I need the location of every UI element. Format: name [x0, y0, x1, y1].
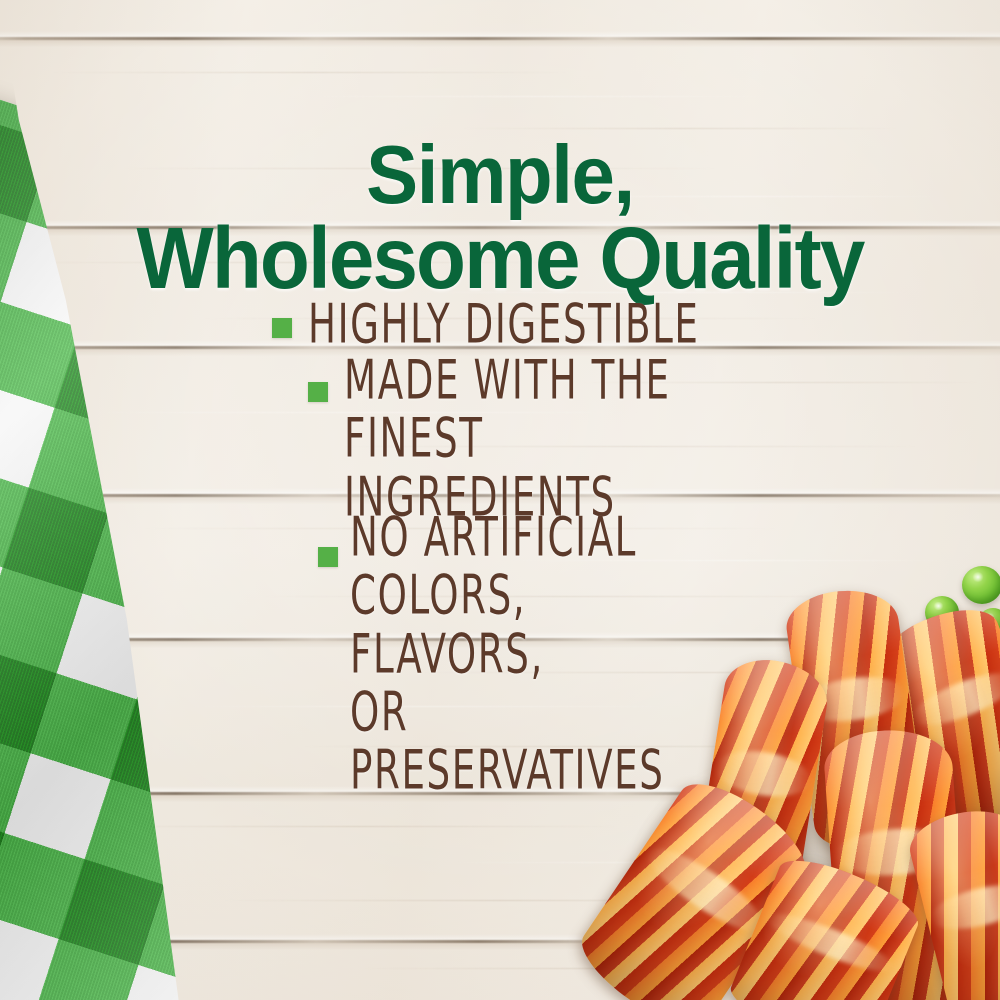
- page-title-line-2: Wholesome Quality: [30, 216, 970, 302]
- list-item: Highly Digestible: [250, 300, 770, 350]
- list-item-label: Highly Digestible: [308, 296, 700, 354]
- page-title-line-1: Simple,: [366, 128, 634, 221]
- green-square-bullet-icon: [308, 382, 328, 402]
- bacon-strips-group: [600, 600, 1000, 1000]
- green-square-bullet-icon: [318, 547, 338, 567]
- list-item: Made with the finest ingredients: [250, 364, 770, 515]
- pea: [962, 566, 1000, 604]
- list-item-label: Made with the finest ingredients: [344, 352, 719, 527]
- promo-banner: Simple, Wholesome Quality Highly Digesti…: [0, 0, 1000, 1000]
- green-square-bullet-icon: [272, 318, 292, 338]
